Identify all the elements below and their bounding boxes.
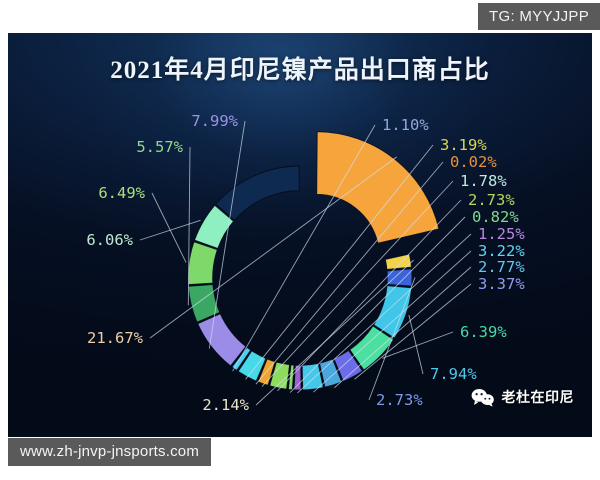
slice-label: 3.37% xyxy=(478,275,525,293)
slice-label: 2.14% xyxy=(202,396,249,414)
leader-line xyxy=(140,220,201,240)
wechat-brand: 老杜在印尼 xyxy=(471,387,575,407)
leader-line xyxy=(152,193,186,262)
slice-label: 2.73% xyxy=(468,191,515,209)
slice-label: 2.77% xyxy=(478,258,525,276)
slice-label: 1.78% xyxy=(460,172,507,190)
slice-label: 1.25% xyxy=(478,225,525,243)
pie-slice xyxy=(385,254,411,269)
slice-label: 3.22% xyxy=(478,242,525,260)
pie-slice xyxy=(387,269,412,286)
chart-panel: 2021年4月印尼镍产品出口商占比 7.99%5.57%6.49%6.06%21… xyxy=(8,33,592,437)
wechat-icon xyxy=(471,388,495,407)
pie-slice xyxy=(188,242,217,285)
donut-chart-svg: 7.99%5.57%6.49%6.06%21.67%2.14%2.73%7.94… xyxy=(8,33,592,437)
telegram-watermark: TG: MYYJJPP xyxy=(478,3,600,30)
slice-label: 6.49% xyxy=(98,184,145,202)
wechat-brand-label: 老杜在印尼 xyxy=(502,387,575,407)
pie-slice xyxy=(216,166,299,220)
pie-slice xyxy=(317,132,439,244)
slice-label: 0.82% xyxy=(472,208,519,226)
slice-label: 1.10% xyxy=(382,116,429,134)
donut-chart: 7.99%5.57%6.49%6.06%21.67%2.14%2.73%7.94… xyxy=(8,33,592,437)
slice-label: 0.02% xyxy=(450,153,497,171)
slice-label: 2.73% xyxy=(376,391,423,409)
slice-label: 3.19% xyxy=(440,136,487,154)
slice-label: 6.06% xyxy=(86,231,133,249)
leader-line xyxy=(233,125,375,371)
leader-line xyxy=(409,315,423,374)
slice-label: 7.99% xyxy=(191,112,238,130)
slice-label: 5.57% xyxy=(136,138,183,156)
slice-label: 6.39% xyxy=(460,323,507,341)
footer-url-watermark: www.zh-jnvp-jnsports.com xyxy=(8,438,211,466)
slice-label: 21.67% xyxy=(87,329,144,347)
slice-label: 7.94% xyxy=(430,365,477,383)
screenshot-root: TG: MYYJJPP 2021年4月印尼镍产品出口商占比 7.99%5.57%… xyxy=(0,0,600,480)
